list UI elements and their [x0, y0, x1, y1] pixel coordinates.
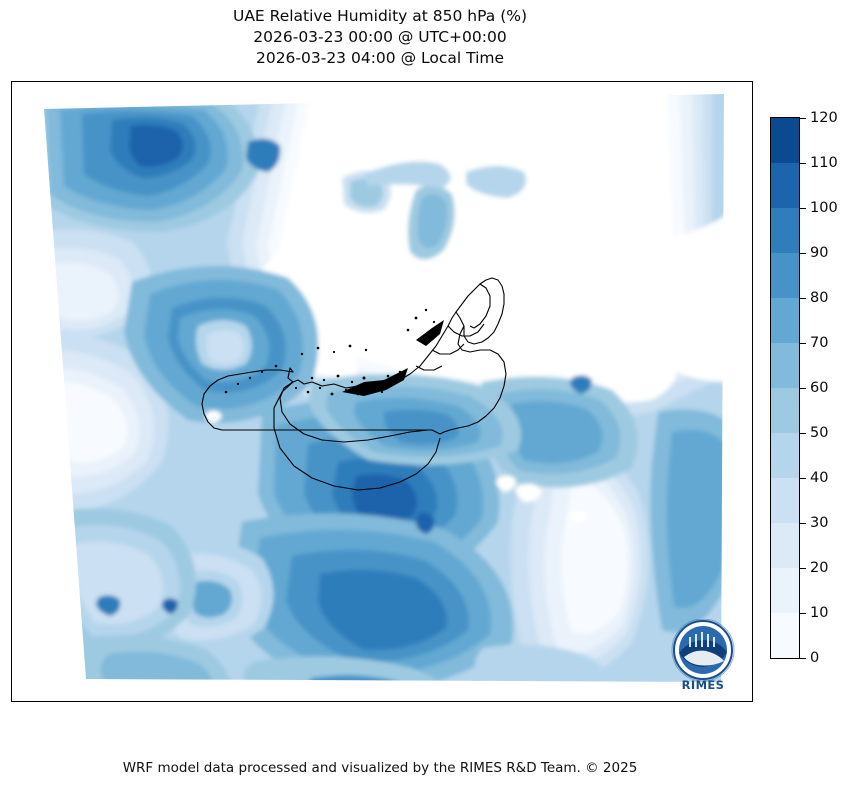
page-title: UAE Relative Humidity at 850 hPa (%) 202…: [0, 6, 760, 69]
colorbar-band: [771, 343, 799, 388]
footer-caption: WRF model data processed and visualized …: [0, 760, 760, 776]
colorbar-band: [771, 523, 799, 568]
colorbar-tick-mark: [800, 253, 806, 254]
colorbar-tick-mark: [800, 118, 806, 119]
colorbar-gradient: [770, 117, 800, 659]
colorbar-tick-label: 110: [810, 155, 838, 171]
colorbar-band: [771, 208, 799, 253]
title-line-utc: 2026-03-23 00:00 @ UTC+00:00: [0, 27, 760, 48]
colorbar-band: [771, 433, 799, 478]
colorbar-tick-label: 100: [810, 200, 838, 216]
title-line-local: 2026-03-23 04:00 @ Local Time: [0, 48, 760, 69]
colorbar-tick-mark: [800, 208, 806, 209]
colorbar-tick-mark: [800, 343, 806, 344]
rimes-logo: RIMES: [670, 619, 736, 693]
colorbar-band: [771, 163, 799, 208]
colorbar-tick-label: 120: [810, 110, 838, 126]
colorbar-tick-mark: [800, 523, 806, 524]
map-plot-area: RIMES: [11, 81, 753, 702]
colorbar-band: [771, 388, 799, 433]
colorbar-tick-mark: [800, 658, 806, 659]
humidity-contour-map: [12, 82, 752, 701]
colorbar-tick-label: 40: [810, 470, 828, 486]
colorbar-band: [771, 118, 799, 163]
colorbar-tick-label: 30: [810, 515, 828, 531]
colorbar-band: [771, 253, 799, 298]
colorbar-tick-label: 90: [810, 245, 828, 261]
title-line-variable: UAE Relative Humidity at 850 hPa (%): [0, 6, 760, 27]
colorbar: 0102030405060708090100110120: [770, 117, 840, 659]
colorbar-tick-mark: [800, 163, 806, 164]
colorbar-band: [771, 568, 799, 613]
colorbar-tick-label: 80: [810, 290, 828, 306]
colorbar-band: [771, 298, 799, 343]
colorbar-tick-label: 70: [810, 335, 828, 351]
colorbar-ticks: 0102030405060708090100110120: [800, 117, 840, 659]
colorbar-tick-label: 50: [810, 425, 828, 441]
colorbar-tick-label: 20: [810, 560, 828, 576]
colorbar-tick-mark: [800, 388, 806, 389]
colorbar-tick-mark: [800, 433, 806, 434]
colorbar-tick-mark: [800, 613, 806, 614]
colorbar-tick-mark: [800, 478, 806, 479]
colorbar-tick-mark: [800, 568, 806, 569]
colorbar-tick-label: 0: [810, 650, 819, 666]
colorbar-tick-label: 10: [810, 605, 828, 621]
colorbar-band: [771, 478, 799, 523]
colorbar-tick-label: 60: [810, 380, 828, 396]
rimes-logo-text: RIMES: [670, 678, 736, 692]
colorbar-band: [771, 613, 799, 658]
colorbar-tick-mark: [800, 298, 806, 299]
